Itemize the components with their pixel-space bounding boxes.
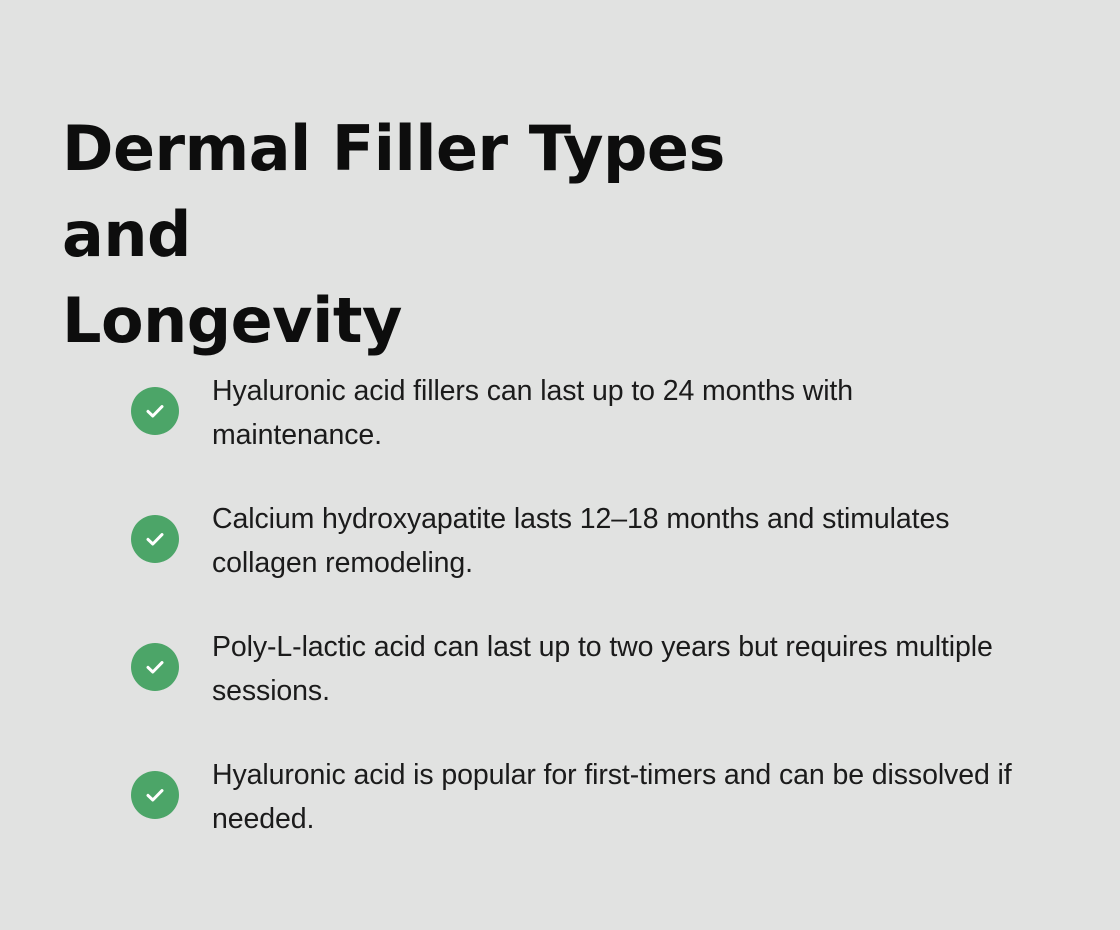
list-item-label: Poly-L-lactic acid can last up to two ye… (212, 625, 1012, 713)
check-circle-icon (131, 387, 179, 435)
list-item-label: Hyaluronic acid is popular for first-tim… (212, 753, 1012, 841)
list-item: Calcium hydroxyapatite lasts 12–18 month… (131, 497, 1031, 585)
list-item-label: Calcium hydroxyapatite lasts 12–18 month… (212, 497, 1012, 585)
list-item-label: Hyaluronic acid fillers can last up to 2… (212, 369, 1012, 457)
slide-canvas: Dermal Filler Types and Longevity Hyalur… (0, 0, 1120, 930)
check-circle-icon (131, 515, 179, 563)
check-circle-icon (131, 643, 179, 691)
list-item: Hyaluronic acid is popular for first-tim… (131, 753, 1031, 841)
page-title: Dermal Filler Types and Longevity (62, 106, 872, 364)
list-item: Poly-L-lactic acid can last up to two ye… (131, 625, 1031, 713)
benefits-list: Hyaluronic acid fillers can last up to 2… (131, 369, 1031, 841)
check-circle-icon (131, 771, 179, 819)
list-item: Hyaluronic acid fillers can last up to 2… (131, 369, 1031, 457)
